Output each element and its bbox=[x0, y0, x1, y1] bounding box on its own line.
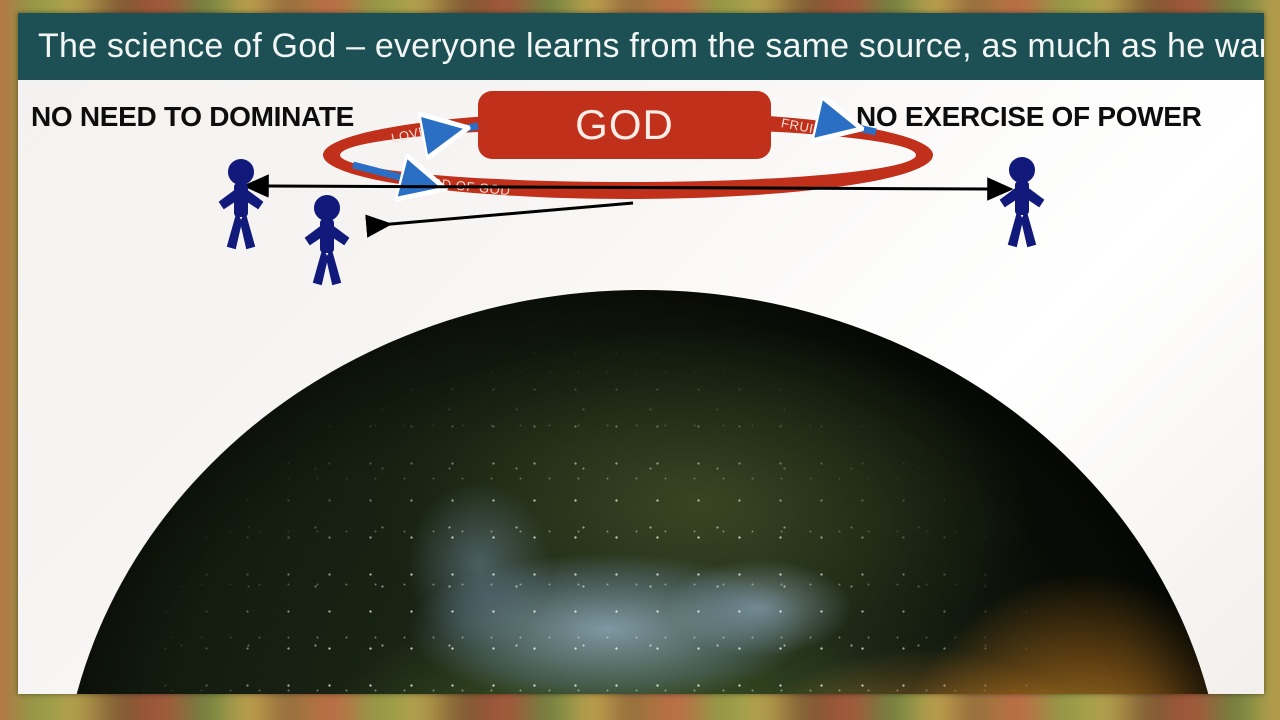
diagonal-arrow-icon bbox=[368, 203, 633, 226]
slide-root: The science of God – everyone learns fro… bbox=[0, 0, 1280, 720]
slide-canvas: The science of God – everyone learns fro… bbox=[18, 13, 1264, 694]
person-figure-left-far bbox=[215, 158, 267, 250]
people-double-arrow-icon bbox=[267, 186, 989, 189]
god-cycle-diagram: GOD LOVE FRUIT WORD OF GOD bbox=[18, 13, 1264, 694]
black-arrows-layer bbox=[18, 13, 1264, 694]
person-figure-left-near bbox=[301, 194, 353, 286]
person-figure-right bbox=[996, 156, 1048, 248]
